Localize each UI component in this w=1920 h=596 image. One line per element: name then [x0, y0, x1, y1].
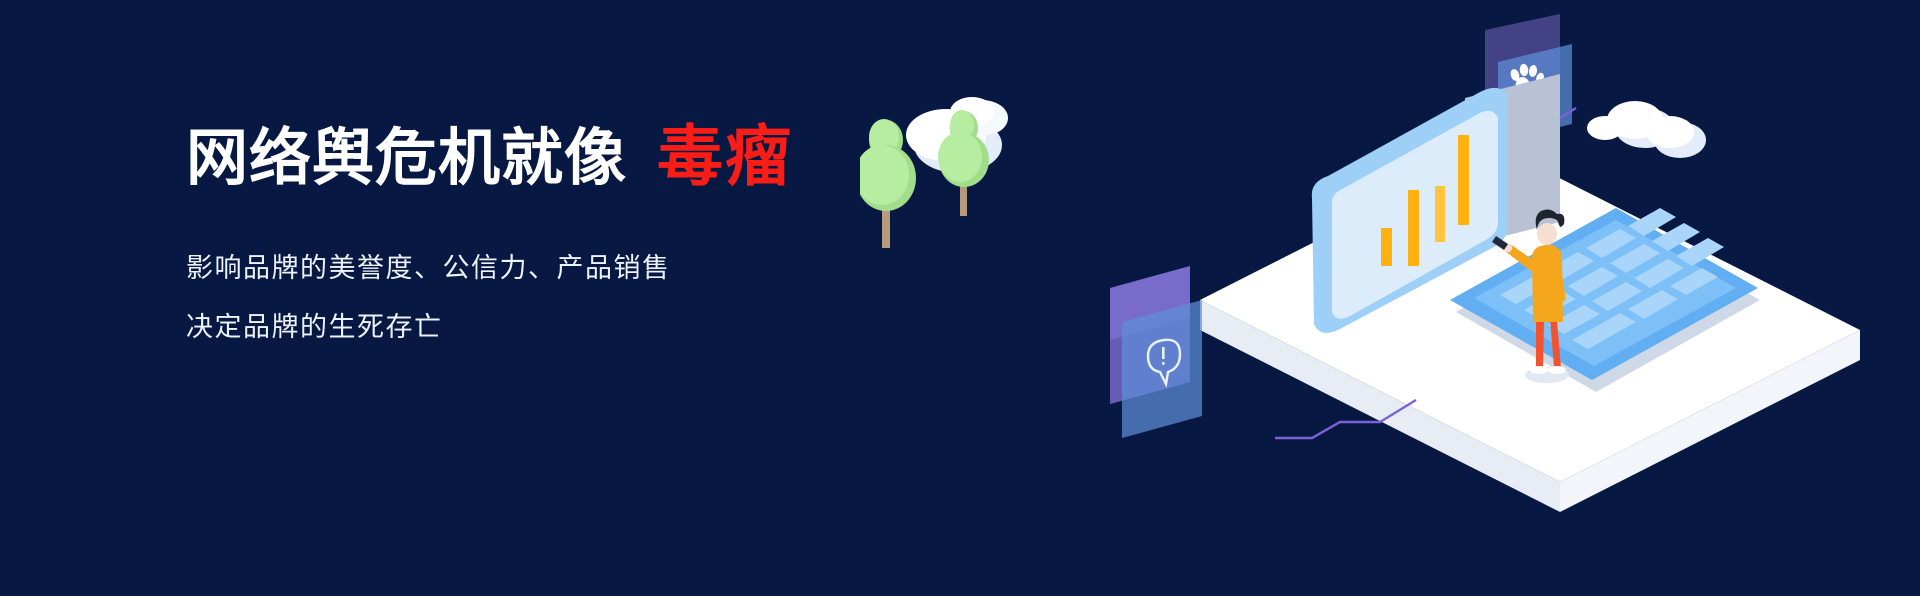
subtitle-block: 影响品牌的美誉度、公信力、产品销售 决定品牌的生死存亡 [186, 255, 946, 341]
subtitle-line-2: 决定品牌的生死存亡 [186, 314, 946, 341]
subtitle-line-1: 影响品牌的美誉度、公信力、产品销售 [186, 255, 946, 282]
headline-plain: 网络舆危机就像 [186, 126, 627, 191]
page-title: 网络舆危机就像 毒瘤 [186, 122, 946, 191]
copy-block: 网络舆危机就像 毒瘤 影响品牌的美誉度、公信力、产品销售 决定品牌的生死存亡 [186, 122, 946, 341]
cloud-icon-right [1587, 101, 1706, 158]
headline-accent: 毒瘤 [657, 122, 793, 191]
alert-card [1110, 266, 1202, 438]
promo-banner: 网络舆危机就像 毒瘤 影响品牌的美誉度、公信力、产品销售 决定品牌的生死存亡 [0, 0, 1920, 596]
isometric-scene-svg [860, 0, 1920, 596]
illustration [860, 0, 1920, 596]
